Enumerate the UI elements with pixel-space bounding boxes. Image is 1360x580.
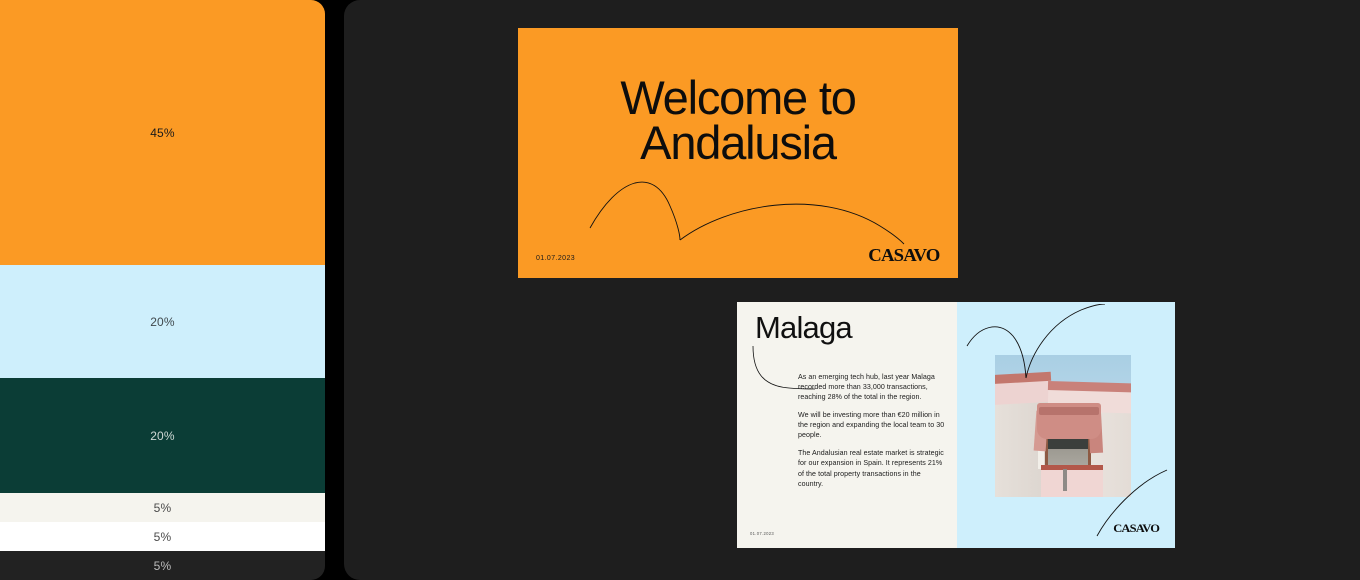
palette-band-label: 20% [150, 429, 175, 443]
malaga-text-panel: Malaga As an emerging tech hub, last yea… [737, 302, 957, 548]
malaga-paragraph: The Andalusian real estate market is str… [798, 448, 946, 488]
palette-band-label: 45% [150, 126, 175, 140]
corner-arc-decoration [1093, 468, 1173, 538]
palette-band-label: 5% [154, 559, 172, 573]
photo-balcony-post [1063, 469, 1067, 491]
palette-band-label: 5% [154, 501, 172, 515]
palette-band[interactable]: 45% [0, 0, 325, 265]
palette-band[interactable]: 5% [0, 522, 325, 551]
casavo-logo: CASAVO [869, 245, 940, 266]
double-arc-decoration [965, 304, 1115, 384]
slide-malaga[interactable]: Malaga As an emerging tech hub, last yea… [737, 302, 1175, 548]
palette-band[interactable]: 20% [0, 265, 325, 378]
slide-date: 01.07.2023 [536, 255, 575, 262]
malaga-body-text: As an emerging tech hub, last year Malag… [798, 372, 946, 489]
title-line-2: Andalusia [518, 121, 958, 166]
malaga-heading: Malaga [755, 310, 852, 346]
page-title: Welcome to Andalusia [518, 76, 958, 165]
palette-band-label: 20% [150, 315, 175, 329]
palette-band-label: 5% [154, 530, 172, 544]
palette-band[interactable]: 5% [0, 551, 325, 580]
palette-panel: 45% 20% 20% 5% 5% 5% [0, 0, 325, 580]
slide-welcome-andalusia[interactable]: Welcome to Andalusia 01.07.2023 CASAVO [518, 28, 958, 278]
malaga-paragraph: We will be investing more than €20 milli… [798, 410, 946, 440]
palette-band[interactable]: 20% [0, 378, 325, 493]
slide-date: 01.07.2023 [750, 531, 774, 536]
slide-canvas: Welcome to Andalusia 01.07.2023 CASAVO M… [344, 0, 1360, 580]
app-root: 45% 20% 20% 5% 5% 5% Welc [0, 0, 1360, 580]
palette-band[interactable]: 5% [0, 493, 325, 522]
malaga-image-panel: CASAVO [957, 302, 1175, 548]
photo-awning-fold [1039, 407, 1099, 415]
malaga-paragraph: As an emerging tech hub, last year Malag… [798, 372, 946, 402]
